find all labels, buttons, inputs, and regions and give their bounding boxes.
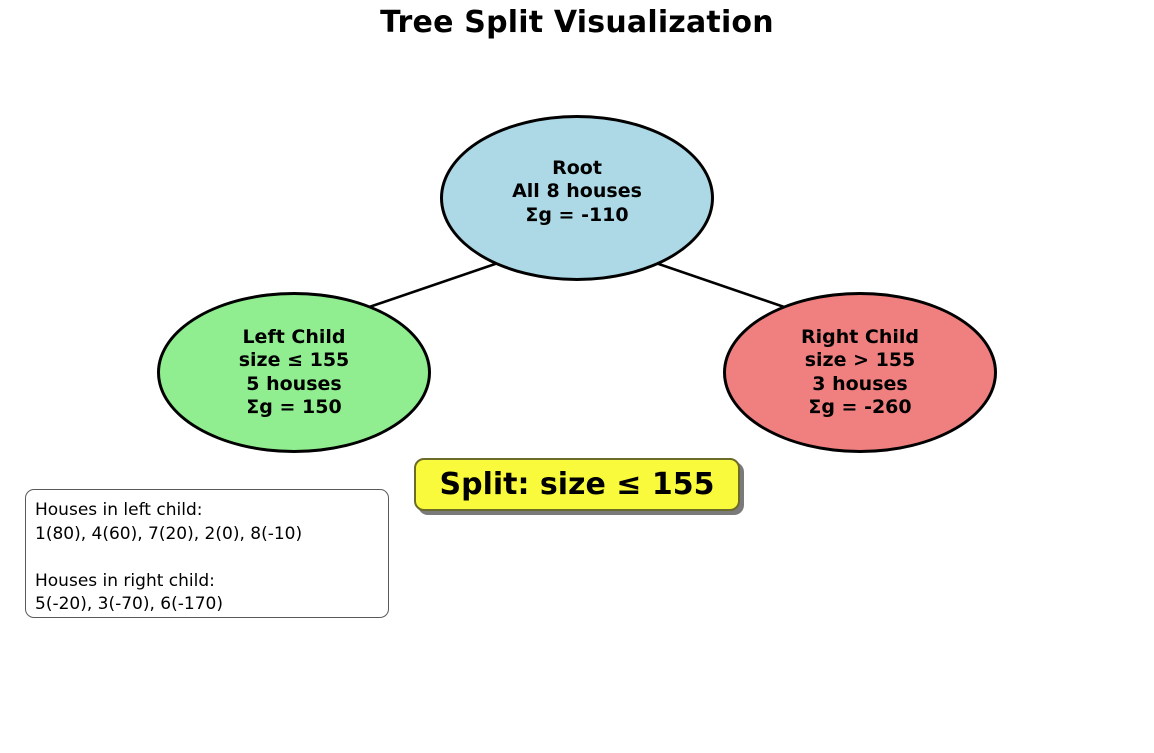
root-node-label: Root All 8 houses Σg = -110 (512, 157, 642, 228)
root-node[interactable]: Root All 8 houses Σg = -110 (440, 115, 714, 281)
split-banner-text: Split: size ≤ 155 (439, 467, 714, 502)
left-child-node[interactable]: Left Child size ≤ 155 5 houses Σg = 150 (157, 292, 431, 453)
houses-legend-box: Houses in left child: 1(80), 4(60), 7(20… (25, 489, 389, 618)
right-child-node[interactable]: Right Child size > 155 3 houses Σg = -26… (723, 292, 997, 453)
split-banner: Split: size ≤ 155 (414, 458, 740, 511)
right-child-node-label: Right Child size > 155 3 houses Σg = -26… (801, 326, 919, 420)
left-child-node-label: Left Child size ≤ 155 5 houses Σg = 150 (239, 326, 350, 420)
houses-legend-text: Houses in left child: 1(80), 4(60), 7(20… (35, 499, 388, 617)
